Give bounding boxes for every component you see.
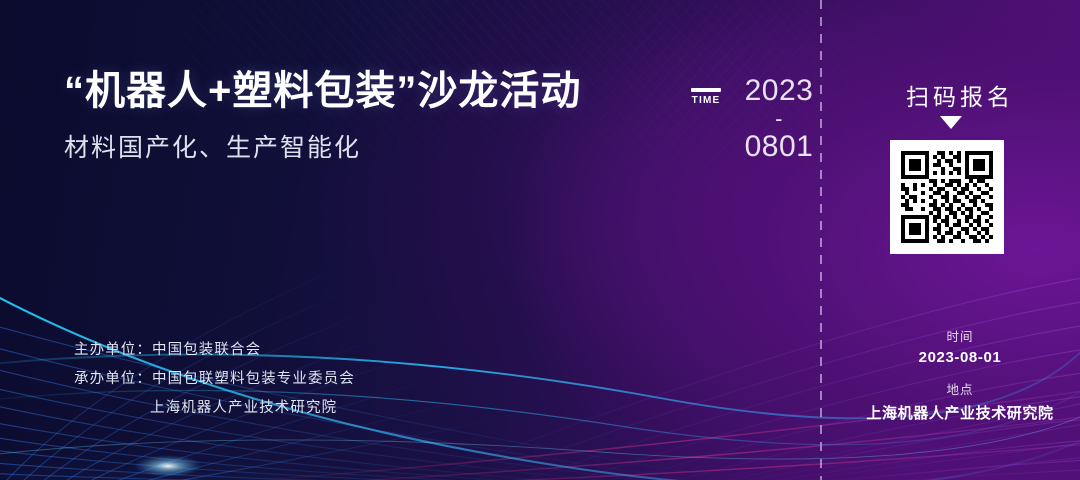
vertical-dashed-divider <box>820 0 822 480</box>
time-value: 2023-08-01 <box>840 349 1080 366</box>
title-block: “机器人+塑料包装”沙龙活动 材料国产化、生产智能化 <box>64 68 581 164</box>
time-mark: TIME <box>684 88 728 106</box>
page-title: “机器人+塑料包装”沙龙活动 <box>64 68 581 115</box>
event-poster-banner: “机器人+塑料包装”沙龙活动 材料国产化、生产智能化 TIME 2023 - 0… <box>0 0 1080 480</box>
date-separator: - <box>740 110 818 129</box>
page-subtitle: 材料国产化、生产智能化 <box>64 128 581 164</box>
place-value: 上海机器人产业技术研究院 <box>840 402 1080 423</box>
scan-to-register-title: 扫码报名 <box>840 78 1080 112</box>
triangle-down-icon <box>940 116 962 129</box>
date-monthday: 0801 <box>740 128 818 166</box>
organizer-line: 承办单位：中国包联塑料包装专业委员会 <box>74 365 355 394</box>
time-mark-label: TIME <box>684 95 728 106</box>
time-label: 时间 <box>840 326 1080 345</box>
date-year: 2023 <box>740 72 818 110</box>
spacer <box>840 366 1080 379</box>
organizer-line: 上海机器人产业技术研究院 <box>74 394 355 423</box>
organizer-line: 主办单位：中国包装联合会 <box>74 336 355 365</box>
event-date-stack: 2023 - 0801 <box>740 72 818 166</box>
event-info-block: 时间 2023-08-01 地点 上海机器人产业技术研究院 <box>840 326 1080 423</box>
qr-code[interactable] <box>890 140 1004 254</box>
place-label: 地点 <box>840 379 1080 398</box>
organizer-block: 主办单位：中国包装联合会 承办单位：中国包联塑料包装专业委员会 上海机器人产业技… <box>74 336 355 423</box>
time-bar-icon <box>691 88 721 92</box>
